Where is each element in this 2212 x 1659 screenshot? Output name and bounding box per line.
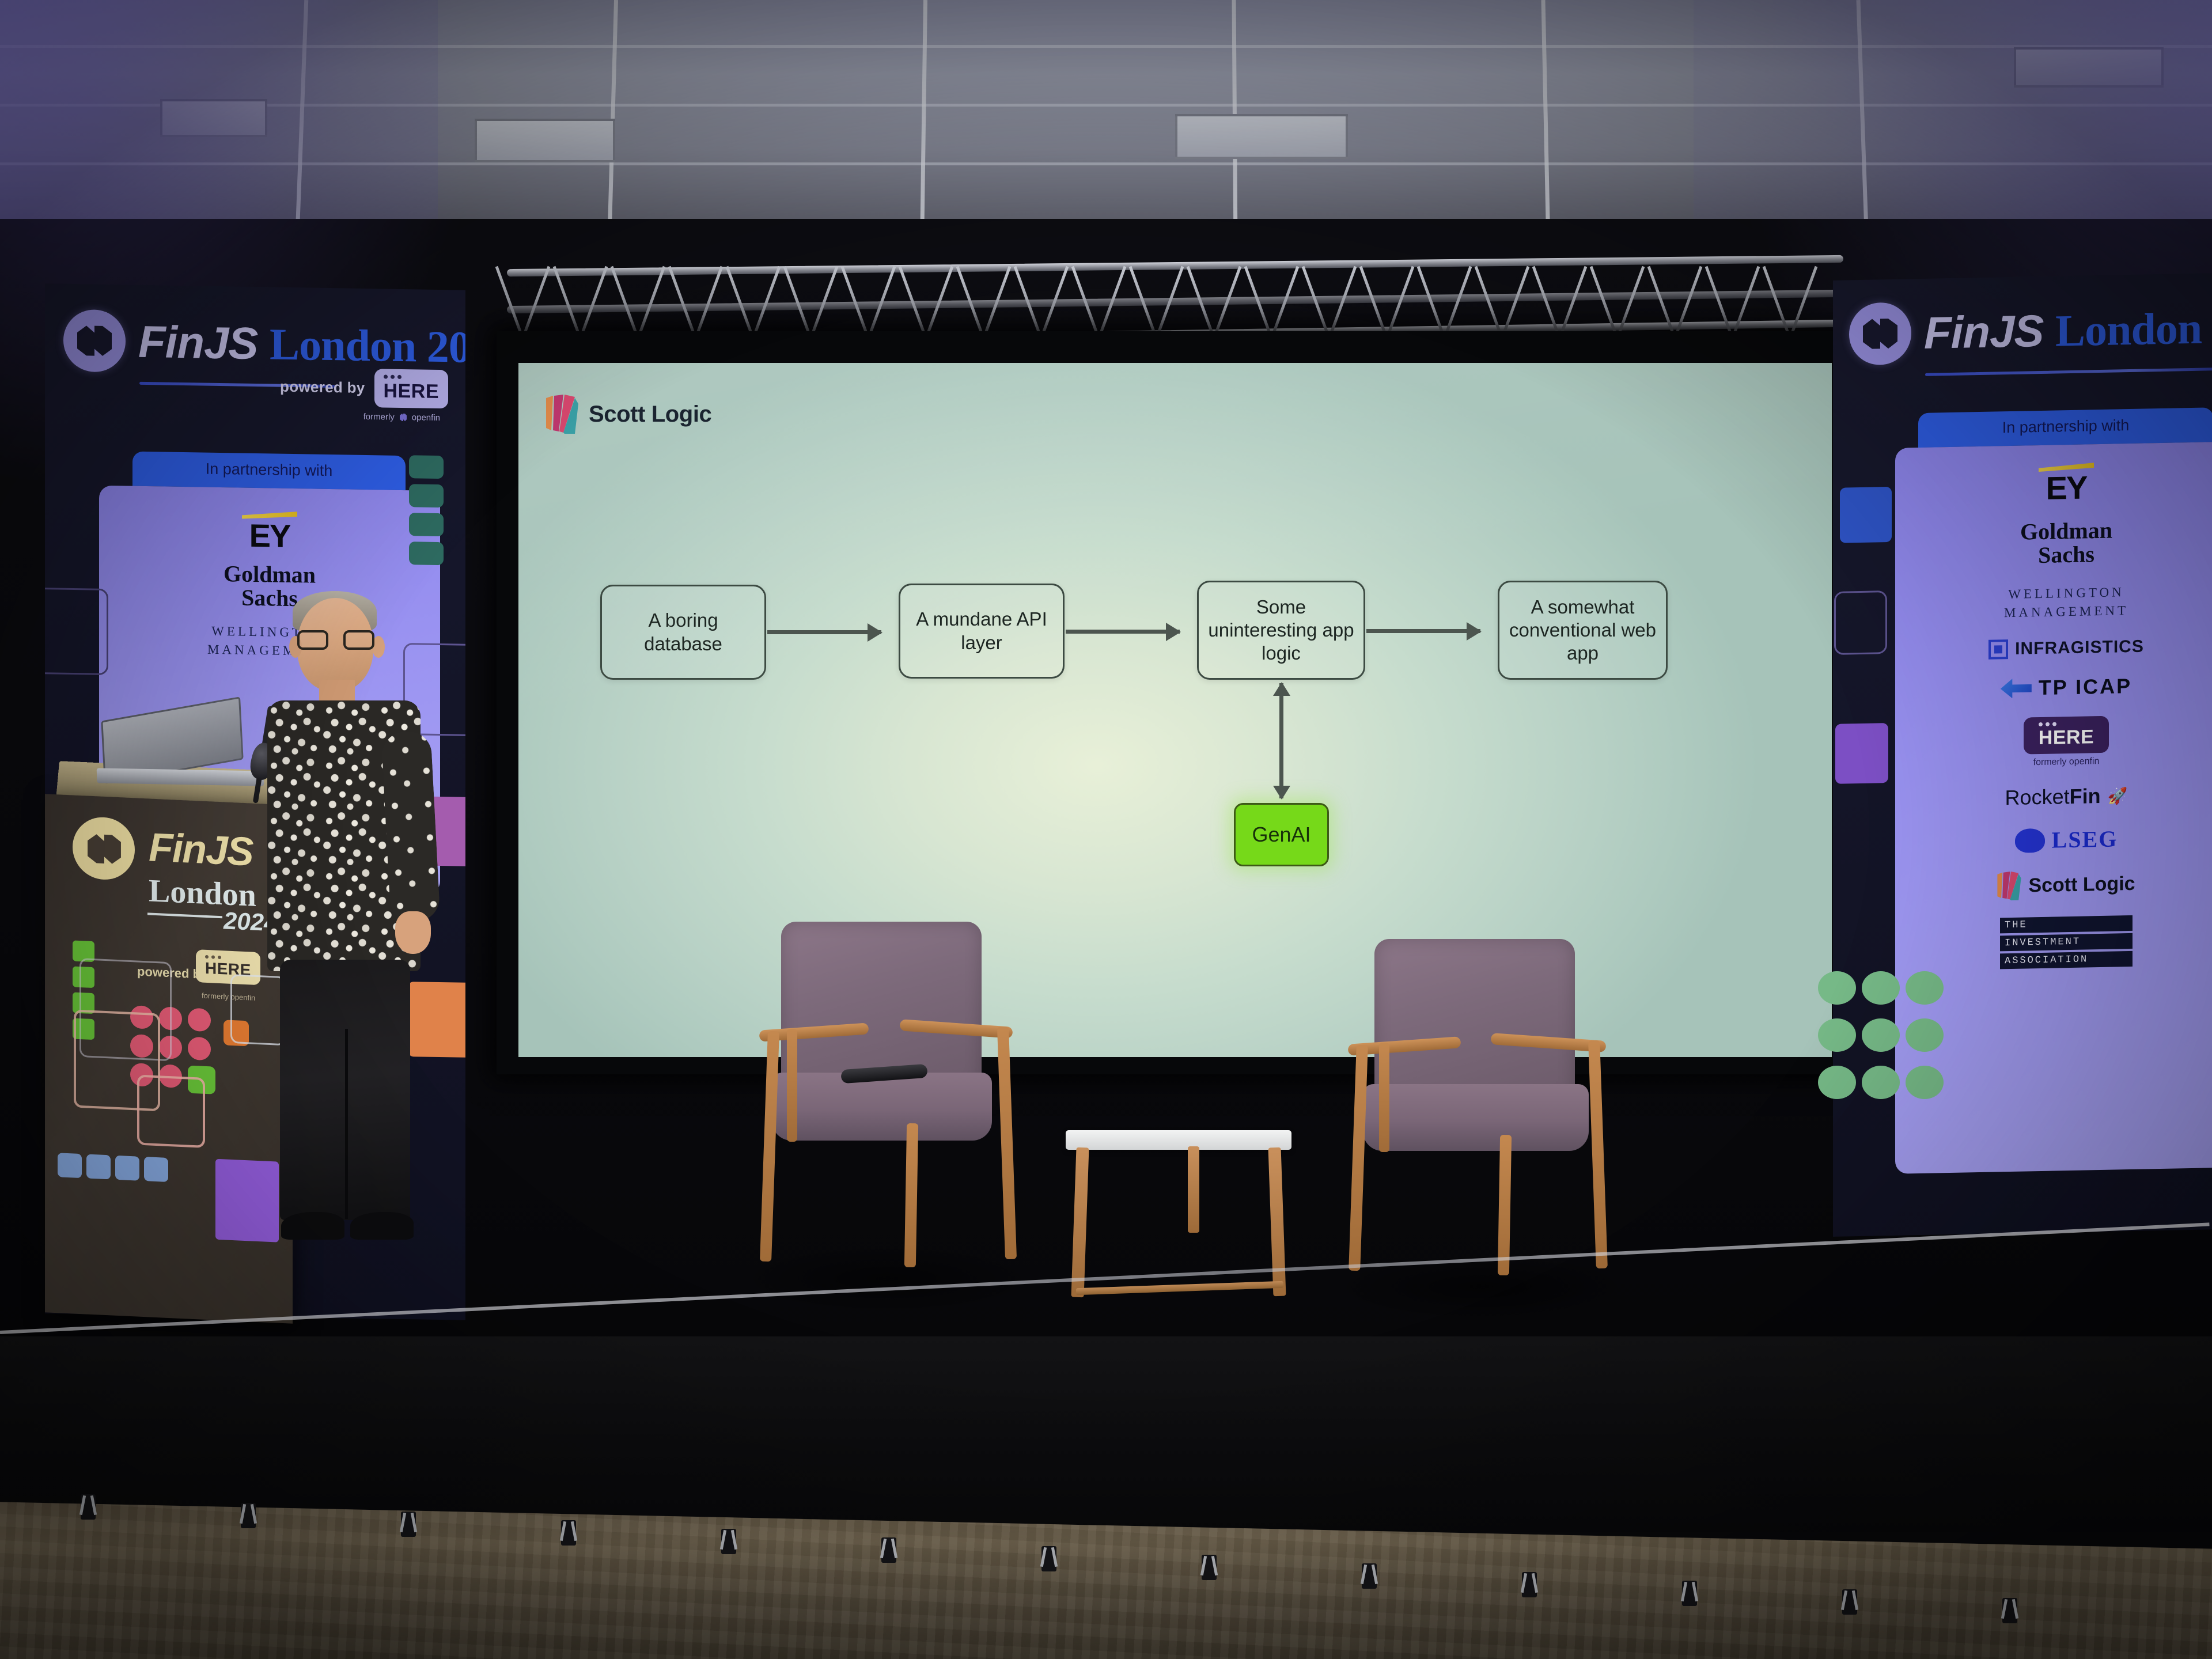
- infragistics-label: INFRAGISTICS: [2015, 637, 2144, 659]
- scott-logic-mark-icon: [1997, 872, 2021, 901]
- deco-dot: [1818, 971, 1856, 1005]
- scott-logic-label: Scott Logic: [2028, 873, 2135, 897]
- truss-brace: [927, 266, 954, 332]
- banner-title-london: London: [2055, 302, 2202, 355]
- chair-leg: [1379, 1043, 1389, 1152]
- truss-brace: [697, 266, 724, 332]
- here-label: HERE: [2039, 728, 2094, 748]
- side-table-leg: [1188, 1146, 1199, 1233]
- truss-brace: [783, 266, 810, 332]
- banner-title-fin: FinJS: [138, 316, 257, 368]
- side-table-rail: [1076, 1281, 1283, 1296]
- diagram-box-label: Some uninteresting app logic: [1205, 596, 1358, 665]
- side-table-leg: [1071, 1147, 1089, 1298]
- here-dots-icon: [384, 374, 402, 378]
- diagram-box-app-logic: Some uninteresting app logic: [1197, 581, 1365, 680]
- partnership-label: In partnership with: [206, 460, 333, 479]
- here-label: HERE: [384, 381, 439, 402]
- diagram-box-label: A somewhat conventional web app: [1505, 596, 1660, 665]
- here-sublabel: formerly openfin: [2033, 756, 2100, 768]
- chair-backrest: [781, 922, 982, 1089]
- partnership-tab: In partnership with: [1918, 407, 2212, 448]
- truss-brace: [755, 266, 781, 332]
- deco-square: [1835, 723, 1888, 784]
- stage-skirt-clip: [1522, 1572, 1537, 1597]
- diagram-box-label: A boring database: [608, 609, 759, 656]
- tp-icap-label: TP ICAP: [2039, 674, 2132, 700]
- rocketfin-logo: RocketFin 🚀: [1906, 782, 2212, 812]
- infragistics-mark-icon: [1988, 639, 2008, 660]
- diagram-box-api: A mundane API layer: [899, 584, 1065, 679]
- speaker-arm: [381, 730, 440, 923]
- lseg-label: LSEG: [2052, 825, 2118, 854]
- diagram-arrow-logic-to-web: [1366, 629, 1480, 633]
- rocket-icon: 🚀: [2108, 786, 2128, 806]
- stage-front-skirt: [0, 1336, 2212, 1532]
- ey-logo: EY: [2039, 463, 2094, 503]
- podium-outline-square: [137, 1075, 205, 1148]
- wellington-line1: WELLINGTON: [2008, 585, 2124, 601]
- stage-skirt-clip: [1842, 1589, 1857, 1615]
- scott-logic-logo-icon: [546, 395, 578, 434]
- tp-icap-mark-icon: [2001, 679, 2032, 699]
- truss-brace: [899, 266, 925, 332]
- powered-by-label: powered by: [280, 378, 365, 397]
- stage-skirt-clip: [1362, 1563, 1377, 1589]
- diagram-box-database: A boring database: [600, 585, 766, 680]
- speaker: [259, 593, 432, 1273]
- lseg-crest-icon: [2015, 828, 2045, 853]
- stage-skirt-clip: [561, 1520, 576, 1546]
- truss-brace: [639, 266, 666, 332]
- laptop-base: [97, 768, 264, 786]
- slide-brand-label: Scott Logic: [589, 402, 711, 427]
- deco-dot: [1818, 1066, 1856, 1099]
- glasses-icon: [297, 630, 374, 650]
- diagram-arrow-api-to-logic: [1066, 630, 1180, 634]
- partnership-label: In partnership with: [2002, 416, 2130, 436]
- diagram-box-web-app: A somewhat conventional web app: [1498, 581, 1668, 680]
- banner-title-london: London 2024: [270, 319, 465, 373]
- truss-brace: [956, 266, 983, 332]
- truss-brace: [812, 266, 839, 332]
- truss-brace: [870, 266, 896, 332]
- chair-seat: [772, 1073, 992, 1141]
- stage-skirt-clip: [401, 1512, 416, 1537]
- finjs-logo-icon: [73, 816, 135, 881]
- podium: FinJS London 2024 powered by HERE former…: [45, 794, 293, 1324]
- infragistics-logo: INFRAGISTICS: [1906, 635, 2212, 661]
- deco-dot: [1906, 1066, 1944, 1099]
- diagram-box-label: A mundane API layer: [906, 608, 1057, 654]
- formerly-openfin: formerly openfin: [45, 407, 440, 423]
- speaker-shoe: [350, 1212, 414, 1240]
- deco-dot: [1818, 1018, 1856, 1052]
- truss-brace: [985, 266, 1012, 332]
- truss-brace: [611, 266, 637, 332]
- openfin-label: openfin: [412, 412, 440, 423]
- here-dots-icon: [205, 955, 221, 959]
- truss-brace: [726, 266, 752, 332]
- chair-seat: [1363, 1084, 1589, 1151]
- chair-leg: [760, 1031, 779, 1262]
- truss-brace: [582, 266, 608, 332]
- side-table-leg: [1268, 1147, 1286, 1297]
- speaker-shoe: [281, 1212, 344, 1240]
- stage-skirt-clip: [2002, 1598, 2017, 1623]
- here-logo: HERE: [374, 369, 448, 408]
- deco-dot: [1862, 971, 1900, 1005]
- deco-square: [409, 541, 444, 565]
- ia-line3: ASSOCIATION: [2000, 951, 2133, 969]
- deco-square: [409, 513, 444, 536]
- conference-stage-photo: Scott Logic A boring database A mundane …: [0, 0, 2212, 1659]
- ia-line2: INVESTMENT: [2000, 933, 2133, 951]
- deco-square: [409, 455, 444, 479]
- speaker-hand: [395, 911, 431, 954]
- ey-label: EY: [249, 521, 290, 551]
- wellington-management-logo: WELLINGTON MANAGEMENT: [2004, 583, 2128, 623]
- ia-line1: THE: [2000, 915, 2133, 933]
- lighting-truss: [507, 262, 1843, 337]
- deco-outline-square: [45, 588, 108, 675]
- stage-skirt-clip: [721, 1529, 736, 1554]
- deco-dot: [1906, 971, 1944, 1005]
- ceiling-vent: [475, 119, 615, 162]
- lseg-logo: LSEG: [1906, 823, 2212, 857]
- deco-outline-square: [1834, 590, 1887, 655]
- deco-square: [1840, 487, 1892, 543]
- ey-logo: EY: [242, 511, 297, 551]
- chair-leg: [997, 1027, 1017, 1259]
- ceiling: [0, 0, 2212, 248]
- chair-leg: [1498, 1135, 1512, 1275]
- chair-leg: [787, 1029, 797, 1142]
- here-dots-icon: [2039, 722, 2056, 727]
- chair-leg: [1588, 1040, 1608, 1268]
- deco-square: [409, 484, 444, 507]
- stage-skirt-clip: [1682, 1581, 1697, 1606]
- presentation-slide: Scott Logic A boring database A mundane …: [518, 363, 1832, 1057]
- rocketfin-label: RocketFin: [2005, 784, 2101, 810]
- banner-title-fin: FinJS: [1924, 305, 2043, 358]
- backdrop-dot-pattern-right: [1818, 971, 1945, 1213]
- diagram-box-label: GenAI: [1252, 822, 1310, 847]
- side-table-top: [1066, 1130, 1291, 1150]
- goldman-sachs-logo: GoldmanSachs: [2020, 519, 2112, 568]
- ey-label: EY: [2046, 473, 2087, 503]
- chair-backrest: [1374, 939, 1575, 1100]
- stage-skirt-clip: [1202, 1555, 1217, 1580]
- tp-icap-logo: TP ICAP: [1906, 672, 2212, 703]
- investment-association-logo: THE INVESTMENT ASSOCIATION: [2000, 915, 2133, 969]
- truss-brace: [841, 266, 868, 332]
- ceiling-vent: [1175, 114, 1348, 159]
- finjs-logo-icon: [63, 309, 126, 373]
- stage-skirt-clip: [241, 1503, 256, 1528]
- banner-title: FinJS London: [1924, 301, 2202, 359]
- diagram-arrow-logic-genai: [1279, 683, 1283, 798]
- deco-dot: [1862, 1018, 1900, 1052]
- stage-skirt-clip: [881, 1537, 896, 1563]
- partnership-tab: In partnership with: [132, 452, 406, 490]
- diagram-box-genai: GenAI: [1234, 803, 1329, 866]
- diagram-arrow-db-to-api: [767, 630, 881, 634]
- wellington-line2: MANAGEMENT: [2004, 603, 2128, 620]
- podium-title-fin: FinJS: [149, 824, 253, 874]
- armchair-left: [755, 922, 1020, 1302]
- deco-dot: [1906, 1018, 1944, 1052]
- chair-leg: [1349, 1045, 1368, 1271]
- banner-title: FinJS London 2024: [138, 315, 465, 373]
- slide-brand-logo: Scott Logic: [546, 395, 711, 434]
- formerly-label: formerly: [363, 412, 395, 422]
- stage-skirt-clip: [1041, 1546, 1056, 1571]
- truss-brace: [668, 266, 695, 332]
- scott-logic-logo: Scott Logic: [1906, 868, 2212, 903]
- speaker-legs: [280, 960, 410, 1220]
- stage-skirt-clip: [81, 1494, 96, 1520]
- deco-dot: [1862, 1066, 1900, 1099]
- here-logo: HERE: [2024, 716, 2109, 755]
- podium-blue-squares: [58, 1153, 168, 1182]
- finjs-logo-icon: [1849, 302, 1911, 365]
